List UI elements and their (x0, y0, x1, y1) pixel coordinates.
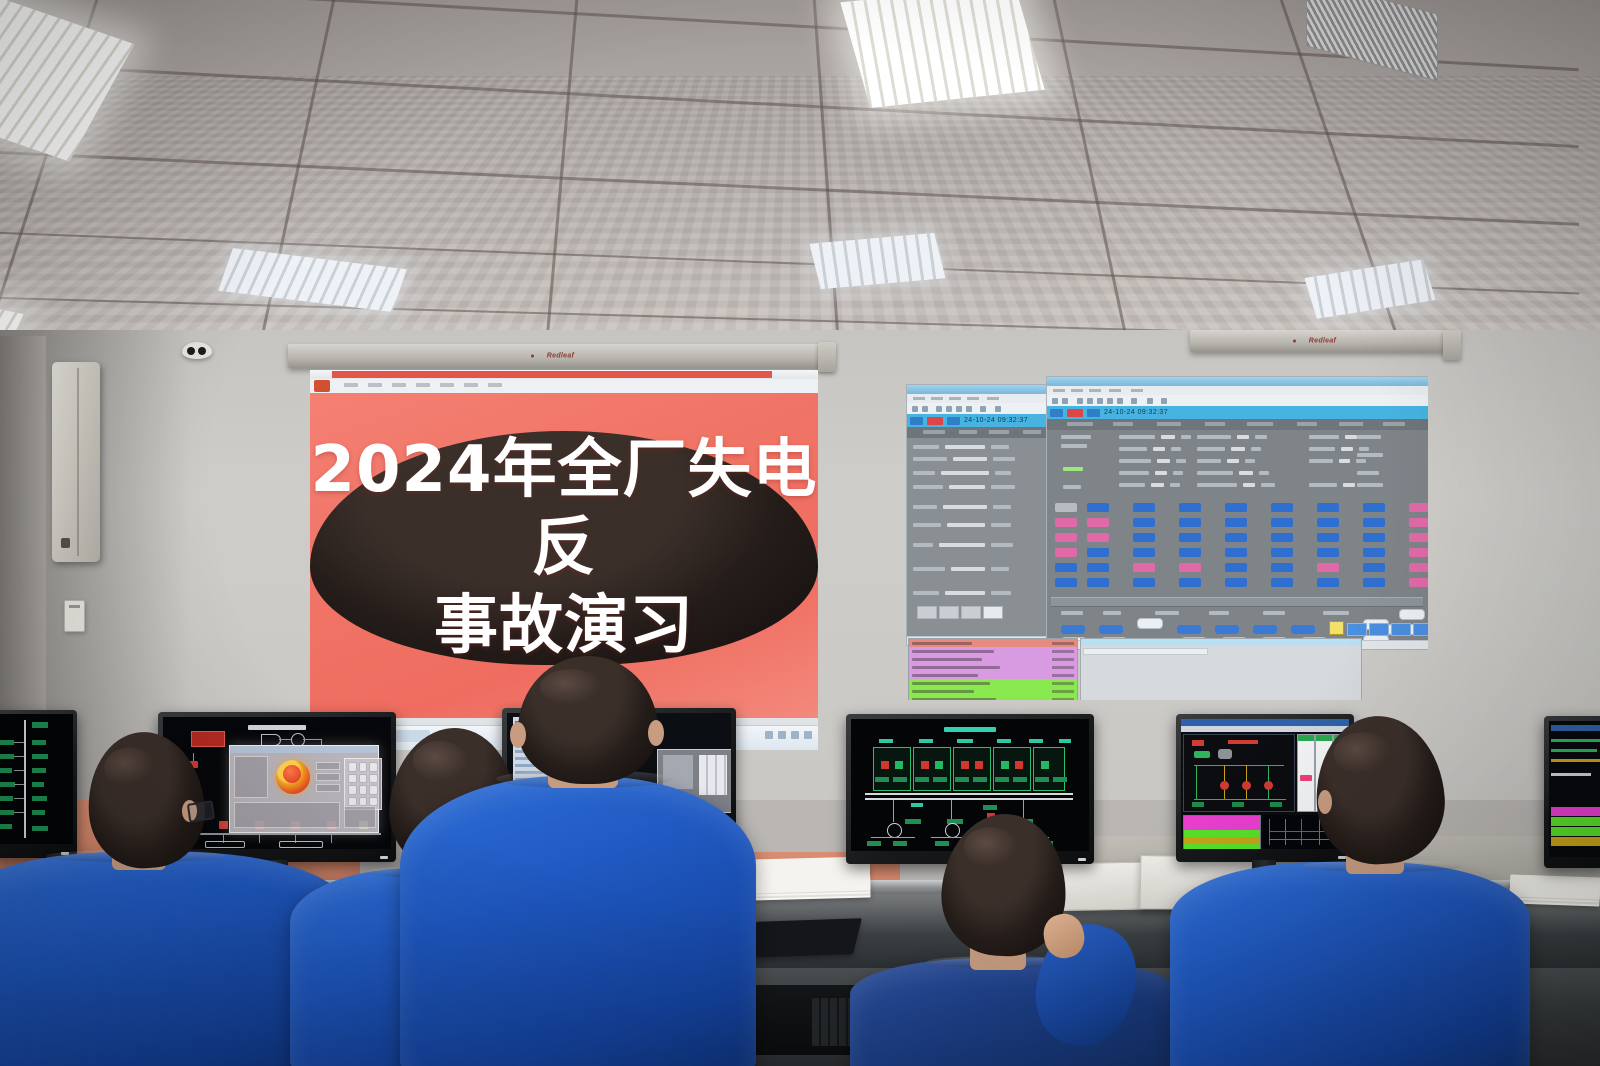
operator-standing-ear-left (510, 722, 526, 748)
dcs-footer-button[interactable] (1347, 623, 1367, 636)
dcs-option-button[interactable] (1399, 609, 1425, 620)
operator-right-head (1311, 712, 1449, 869)
dcs-table-header (1047, 419, 1428, 430)
monitor-6-chin (1544, 858, 1600, 868)
ceiling-light-4 (840, 0, 1044, 108)
dcs-tag-row (1055, 548, 1077, 557)
dcs-footer-button[interactable] (1391, 623, 1411, 636)
dcs-warning-icon (1329, 621, 1344, 635)
alarm-row[interactable] (909, 695, 1077, 700)
screen-end-cap-right (1443, 330, 1461, 360)
dcs-tag-row (1087, 503, 1428, 512)
diagram-title (944, 727, 996, 732)
dcs-command-buttons[interactable] (1061, 625, 1315, 634)
dcs-command-button[interactable] (1253, 625, 1277, 634)
ppt-accent-bar (332, 371, 772, 378)
dcs-tag-row (1087, 518, 1428, 527)
dcs-command-button[interactable] (1061, 625, 1085, 634)
dcs-tag-row (1055, 533, 1077, 542)
ppt-ribbon[interactable] (310, 379, 818, 394)
dcs-tag-row (1055, 578, 1077, 587)
ceiling (0, 0, 1600, 352)
operator-right-torso (1170, 862, 1530, 1066)
operator-standing-center (400, 658, 780, 1066)
dcs-command-button[interactable] (1291, 625, 1315, 634)
alarm-row[interactable] (909, 663, 1077, 671)
wall-speaker (52, 362, 100, 562)
dcs-window-tertiary[interactable] (1080, 638, 1362, 700)
operator-standing-torso (400, 776, 756, 1066)
dcs-command-button[interactable] (1215, 625, 1239, 634)
ppt-ribbon-tabs[interactable] (344, 383, 502, 387)
slide-title-line-2: 事故演习 (310, 587, 818, 665)
dcs-footer-button[interactable] (1369, 623, 1389, 636)
dcs-tag-row (1055, 503, 1077, 512)
dcs-window-main[interactable]: 24-10-24 09:32:37 (1046, 376, 1428, 650)
dcs-footer-buttons[interactable] (1347, 623, 1428, 636)
monitor-6-edge[interactable] (1544, 716, 1600, 868)
dcs-tag-row (1087, 563, 1428, 572)
alarm-row[interactable] (909, 655, 1077, 663)
operator-standing-ear-right (648, 720, 664, 746)
dcs-address-field[interactable] (1083, 648, 1208, 655)
wall-switch-plate[interactable] (64, 600, 85, 632)
dcs-status-strip: 24-10-24 09:32:37 (1047, 406, 1428, 419)
dcs-menu-bar[interactable] (1047, 386, 1428, 395)
alarm-row[interactable] (909, 647, 1077, 655)
operator-standing-head (518, 656, 658, 784)
paper-stack-far-right (1510, 874, 1600, 899)
dcs-body (1047, 419, 1428, 649)
screen-brand-label: Redleaf (547, 353, 574, 360)
dome-camera (182, 342, 212, 359)
dcs-alarm-list[interactable] (908, 638, 1078, 700)
dcs-window-title-bar (1047, 377, 1428, 386)
dcs-tag-row (1087, 578, 1428, 587)
alarm-row[interactable] (909, 671, 1077, 679)
dcs-tag-row (1087, 533, 1428, 542)
operator-right (1184, 712, 1514, 1066)
dcs-option-button[interactable] (1137, 618, 1163, 629)
control-room-photo: Redleaf 2024年全厂失电反 事故演习 川南发电公司 (0, 0, 1600, 1066)
dcs-command-button[interactable] (1177, 625, 1201, 634)
dcs-footer-buttons-2[interactable] (917, 606, 1003, 619)
operator-right-ear (1318, 790, 1332, 814)
powerpoint-logo-icon (314, 380, 330, 392)
dcs-window-title-bar-3 (1081, 639, 1361, 646)
operator-left (0, 724, 330, 1066)
dcs-tag-row (1087, 548, 1428, 557)
dcs-section-divider (1051, 597, 1423, 607)
projection-screen-housing-left: Redleaf (288, 344, 833, 368)
right-projection-area: 24-10-24 09:32:37 (898, 370, 1428, 700)
operator-front-right (860, 806, 1190, 1066)
slide-title: 2024年全厂失电反 事故演习 (310, 431, 818, 665)
screen-brand-label-right: Redleaf (1309, 338, 1336, 345)
projection-screen-housing-right: Redleaf (1190, 330, 1455, 352)
slide-title-line-1: 2024年全厂失电反 (310, 431, 818, 587)
dcs-timestamp-2: 24-10-24 09:32:37 (964, 417, 1028, 424)
dcs-footer-button[interactable] (1413, 623, 1428, 636)
dcs-tag-row (1055, 563, 1077, 572)
dcs-timestamp: 24-10-24 09:32:37 (1104, 409, 1168, 416)
dcs-command-button[interactable] (1099, 625, 1123, 634)
alarm-row[interactable] (909, 679, 1077, 687)
screen-end-cap-left (818, 342, 836, 372)
alarm-row[interactable] (909, 687, 1077, 695)
monitor-6-screen[interactable] (1549, 721, 1600, 857)
dcs-tag-row (1055, 518, 1077, 527)
alarm-row[interactable] (909, 639, 1077, 647)
operator-left-glasses (187, 800, 215, 822)
